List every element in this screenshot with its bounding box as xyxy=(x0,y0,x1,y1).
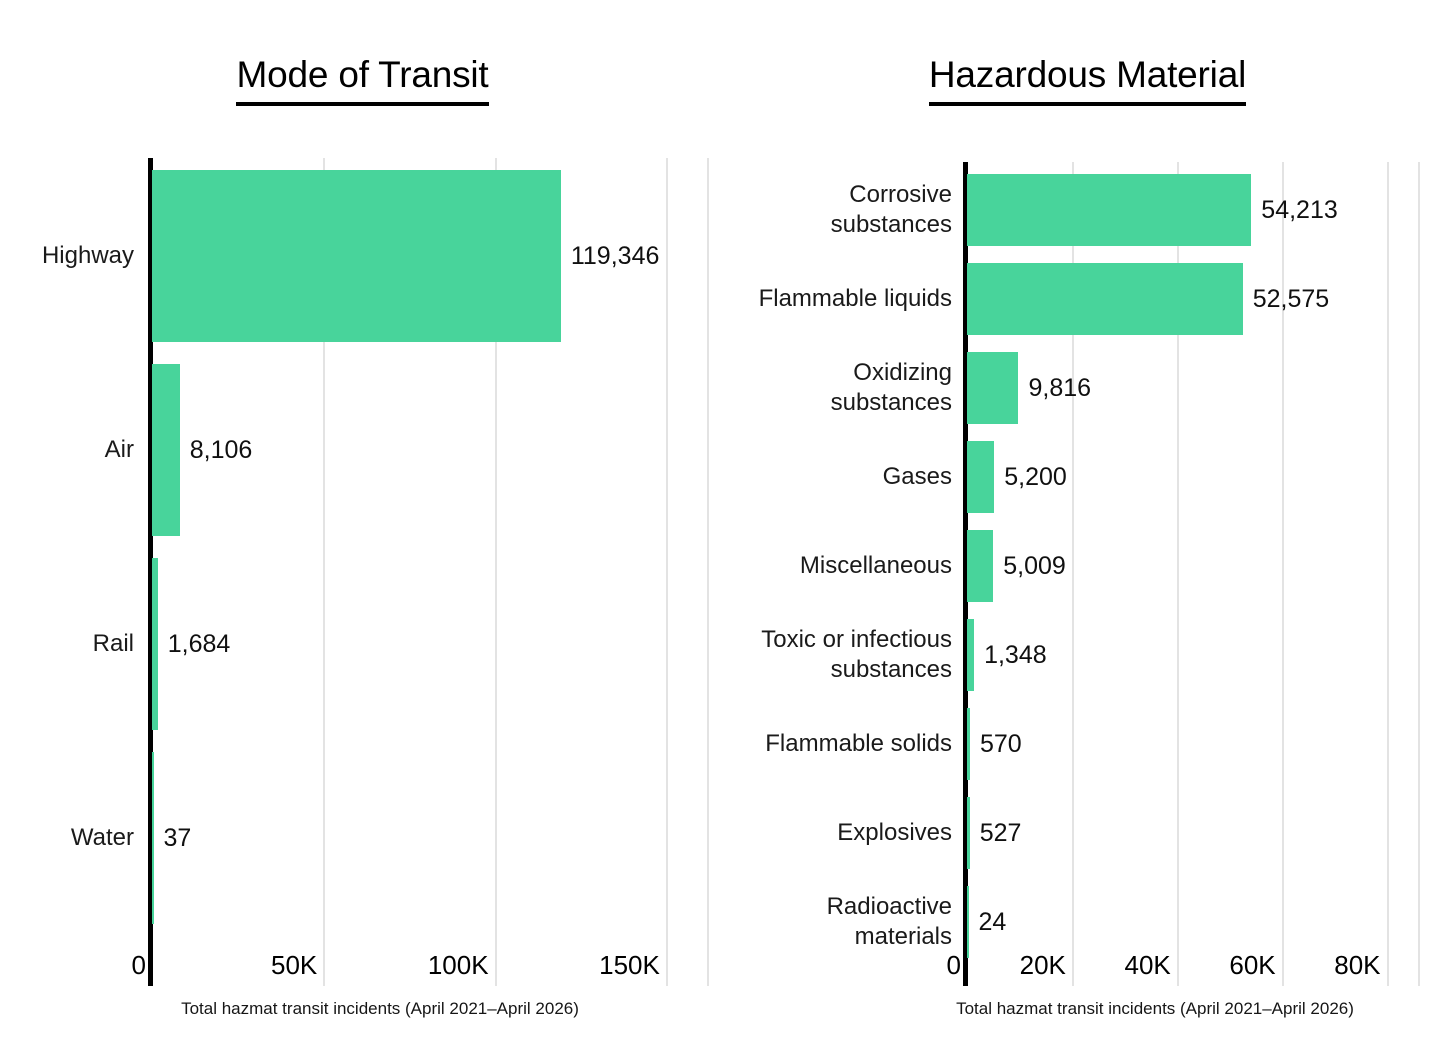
category-label: Water xyxy=(8,823,134,853)
value-label: 570 xyxy=(980,729,1022,759)
plot-area-mode-of-transit: Highway119,346Air8,106Rail1,684Water3705… xyxy=(0,0,725,1050)
plot-area-hazardous-material: Corrosive substances54,213Flammable liqu… xyxy=(725,0,1450,1050)
bar[interactable] xyxy=(967,619,974,691)
value-label: 8,106 xyxy=(190,435,253,465)
bar[interactable] xyxy=(967,886,969,958)
value-label: 1,684 xyxy=(168,629,231,659)
category-label: Radioactive materials xyxy=(733,892,952,952)
gridline xyxy=(1387,162,1389,986)
bar[interactable] xyxy=(967,174,1251,246)
value-label: 527 xyxy=(980,818,1022,848)
bar[interactable] xyxy=(152,364,180,536)
bar[interactable] xyxy=(967,441,994,513)
category-label: Explosives xyxy=(733,818,952,848)
bar[interactable] xyxy=(152,558,158,730)
bar[interactable] xyxy=(967,263,1243,335)
category-label: Corrosive substances xyxy=(733,180,952,240)
x-tick-label: 100K xyxy=(375,950,489,980)
value-label: 5,200 xyxy=(1004,462,1067,492)
value-label: 37 xyxy=(164,823,192,853)
category-label: Toxic or infectious substances xyxy=(733,625,952,685)
value-label: 119,346 xyxy=(571,241,660,271)
x-axis-caption-left: Total hazmat transit incidents (April 20… xyxy=(100,998,660,1020)
gridline xyxy=(666,158,668,986)
value-label: 9,816 xyxy=(1028,373,1091,403)
chart-panel-hazardous-material: Hazardous Material Corrosive substances5… xyxy=(725,0,1450,1050)
dashboard-page: Mode of Transit Highway119,346Air8,106Ra… xyxy=(0,0,1450,1050)
category-label: Oxidizing substances xyxy=(733,358,952,418)
value-label: 5,009 xyxy=(1003,551,1066,581)
x-tick-label: 80K xyxy=(1267,950,1381,980)
gridline xyxy=(707,158,709,986)
category-label: Air xyxy=(8,435,134,465)
value-label: 52,575 xyxy=(1253,284,1329,314)
x-tick-label: 150K xyxy=(546,950,660,980)
bar[interactable] xyxy=(967,708,970,780)
x-tick-label: 40K xyxy=(1057,950,1171,980)
bar[interactable] xyxy=(967,797,970,869)
x-tick-label: 0 xyxy=(32,950,146,980)
x-tick-label: 0 xyxy=(847,950,961,980)
value-label: 54,213 xyxy=(1261,195,1337,225)
category-label: Rail xyxy=(8,629,134,659)
category-label: Gases xyxy=(733,462,952,492)
category-label: Miscellaneous xyxy=(733,551,952,581)
bar[interactable] xyxy=(152,170,561,342)
bar[interactable] xyxy=(967,530,993,602)
x-tick-label: 20K xyxy=(952,950,1066,980)
bar[interactable] xyxy=(152,752,154,924)
gridline xyxy=(1418,162,1420,986)
bar[interactable] xyxy=(967,352,1018,424)
x-tick-label: 50K xyxy=(203,950,317,980)
category-label: Flammable solids xyxy=(733,729,952,759)
x-tick-label: 60K xyxy=(1162,950,1276,980)
chart-panel-mode-of-transit: Mode of Transit Highway119,346Air8,106Ra… xyxy=(0,0,725,1050)
value-label: 1,348 xyxy=(984,640,1047,670)
value-label: 24 xyxy=(979,907,1007,937)
category-label: Flammable liquids xyxy=(733,284,952,314)
x-axis-caption-right: Total hazmat transit incidents (April 20… xyxy=(875,998,1435,1020)
category-label: Highway xyxy=(8,241,134,271)
